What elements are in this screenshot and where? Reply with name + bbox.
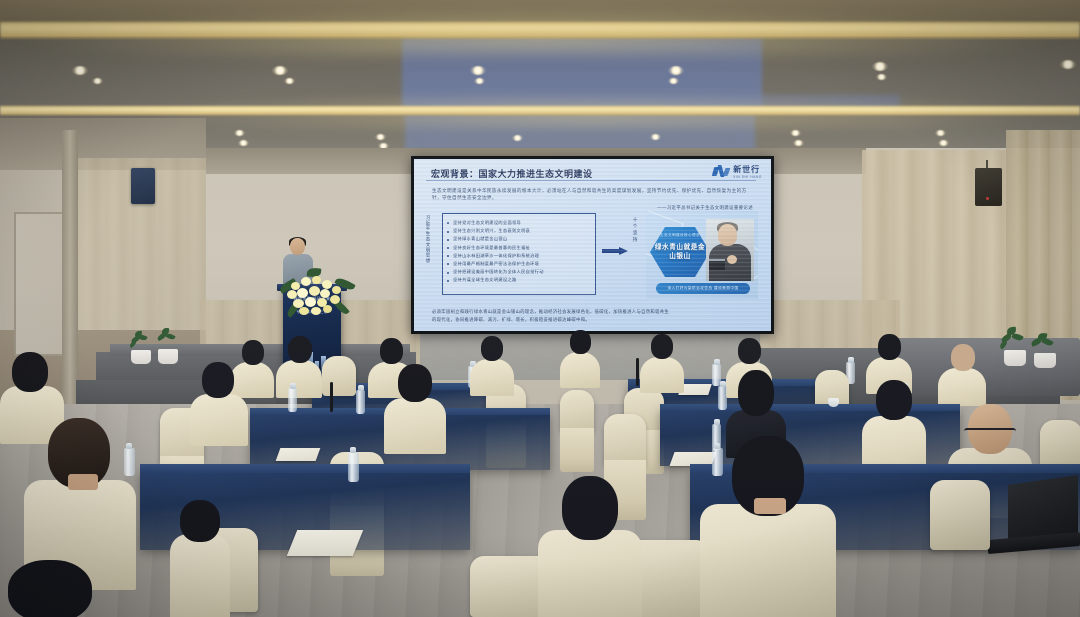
audience-member (170, 500, 230, 617)
presentation-screen[interactable]: 宏观背景：国家大力推进生态文明建设 新世行 XIN SHI HANG 生态文明建… (411, 156, 774, 334)
ceiling-downlight (238, 140, 249, 146)
plant-pot (131, 350, 151, 364)
conference-room-scene: 宏观背景：国家大力推进生态文明建设 新世行 XIN SHI HANG 生态文明建… (0, 0, 1080, 617)
ceiling-downlight (284, 78, 295, 84)
ceiling-downlight (938, 140, 949, 146)
slide-footer-text: 必须牢固树立和践行绿水青山就是金山银山的理念，推动经济社会发展绿色化、低碳化，加… (432, 308, 672, 323)
ceiling-downlight (1060, 60, 1076, 69)
list-item: 坚持党对生态文明建设的全面领导 (453, 219, 589, 227)
cove-light-strip-upper (0, 22, 1080, 38)
ceiling-downlight (512, 135, 523, 141)
chair[interactable] (1040, 420, 1080, 470)
audience-member (640, 334, 684, 392)
cove-light-strip-lower (0, 106, 1080, 115)
chair[interactable] (930, 480, 990, 550)
ceiling-downlight (375, 134, 386, 140)
plant-leaves (1001, 329, 1028, 353)
wall-speaker-right-icon (975, 168, 1002, 206)
ceiling-downlight (72, 66, 88, 75)
ceiling-downlight (935, 130, 946, 136)
list-item: 坚持生态兴则文明兴，生态衰则文明衰 (453, 227, 589, 235)
water-bottle[interactable] (288, 388, 297, 412)
plant-leaves (156, 329, 181, 351)
list-item: 坚持共谋全球生态文明建设之路 (453, 276, 589, 284)
potted-plant (1034, 336, 1056, 368)
water-bottle[interactable] (348, 452, 359, 482)
slide-title: 宏观背景：国家大力推进生态文明建设 (431, 167, 593, 180)
flower-arrangement (277, 268, 355, 324)
graphic-caption-text: 深入打好污染防治攻坚战 建设美丽中国 (667, 286, 738, 291)
wall-speaker-left-icon (131, 168, 155, 204)
plant-pot (1034, 353, 1056, 368)
potted-plant (1004, 332, 1026, 366)
water-bottle[interactable] (356, 390, 365, 414)
audience-member (700, 436, 836, 617)
list-item: 坚持把建设美丽中国转化为全体人民自觉行动 (453, 268, 589, 276)
eyeglasses-icon (964, 428, 1016, 440)
plant-leaves (129, 331, 154, 352)
slide-content: 宏观背景：国家大力推进生态文明建设 新世行 XIN SHI HANG 生态文明建… (414, 159, 771, 331)
potted-plant (158, 332, 178, 364)
audience-member (862, 380, 926, 472)
audience-member (384, 364, 446, 450)
ceiling-downlight (793, 140, 804, 146)
chair-skirt (560, 428, 594, 472)
right-arrow-icon (602, 247, 628, 255)
cup[interactable] (828, 398, 839, 407)
hexagon-caption: 生态文明建设核心理念 (656, 233, 704, 238)
list-item: 坚持用最严格制度最严密法治保护生态环境 (453, 260, 589, 268)
audience-member (538, 476, 642, 617)
ceiling-downlight (668, 78, 679, 84)
ceiling-downlight (872, 62, 888, 71)
company-logo-icon (713, 165, 730, 178)
potted-plant (131, 334, 151, 364)
ceiling-downlight (876, 74, 887, 80)
speaker-led-indicator (986, 197, 989, 200)
slide-quote: 生态文明建设是关系中华民族永续发展的根本大计，必须站在人与自然和谐共生的高度谋划… (432, 187, 752, 201)
plant-pot (158, 349, 178, 364)
slide-logo: 新世行 XIN SHI HANG (713, 164, 762, 179)
chair[interactable] (322, 356, 356, 396)
slide-bullet-box: 坚持党对生态文明建设的全面领导 坚持生态兴则文明兴，生态衰则文明衰 坚持绿水青山… (442, 213, 596, 295)
audience-member (560, 330, 600, 386)
slide-left-vertical-label: 习近平生态文明思想 (423, 215, 431, 293)
table-top (140, 464, 470, 473)
logo-subtext: XIN SHI HANG (733, 175, 762, 179)
plant-leaves (1031, 333, 1058, 355)
ceiling-downlight (668, 66, 684, 75)
slide-graphic-panel: 生态文明建设核心理念 绿水青山就是金山银山 深入打好污染防治攻坚战 建设美丽中国 (646, 211, 758, 299)
list-item: 坚持绿水青山就是金山银山 (453, 235, 589, 243)
audience-member (470, 336, 514, 394)
microphone[interactable] (330, 382, 333, 412)
audience-member (0, 560, 120, 617)
list-item: 坚持良好生态环境是最普惠的民生福祉 (453, 244, 589, 252)
ceiling-downlight (272, 66, 288, 75)
ceiling-downlight (92, 78, 103, 84)
slide-title-divider (426, 180, 756, 181)
ceiling-downlight (470, 66, 486, 75)
chair[interactable] (560, 390, 594, 432)
left-wall-pillar (62, 130, 78, 420)
list-item: 坚持山水林田湖草沙一体化保护和系统治理 (453, 252, 589, 260)
paper-notepad[interactable] (276, 448, 321, 461)
ceiling-downlight (474, 78, 485, 84)
ceiling-downlight (234, 130, 245, 136)
ceiling-downlight (790, 130, 801, 136)
leader-photo (706, 219, 754, 281)
audience-member (190, 362, 248, 442)
logo-text: 新世行 (733, 164, 762, 175)
audience-member (276, 336, 322, 396)
paper-notepad[interactable] (287, 530, 364, 556)
hexagon-main-text: 绿水青山就是金山银山 (654, 243, 706, 261)
plant-pot (1004, 350, 1026, 366)
chair[interactable] (604, 414, 646, 466)
audience-member (938, 344, 986, 404)
slide-middle-vertical-label: 十个坚持 (630, 217, 639, 289)
microphone[interactable] (636, 358, 639, 386)
ceiling-downlight (650, 134, 661, 140)
slide-bullet-list: 坚持党对生态文明建设的全面领导 坚持生态兴则文明兴，生态衰则文明衰 坚持绿水青山… (443, 214, 595, 285)
graphic-caption-pill: 深入打好污染防治攻坚战 建设美丽中国 (656, 283, 750, 294)
